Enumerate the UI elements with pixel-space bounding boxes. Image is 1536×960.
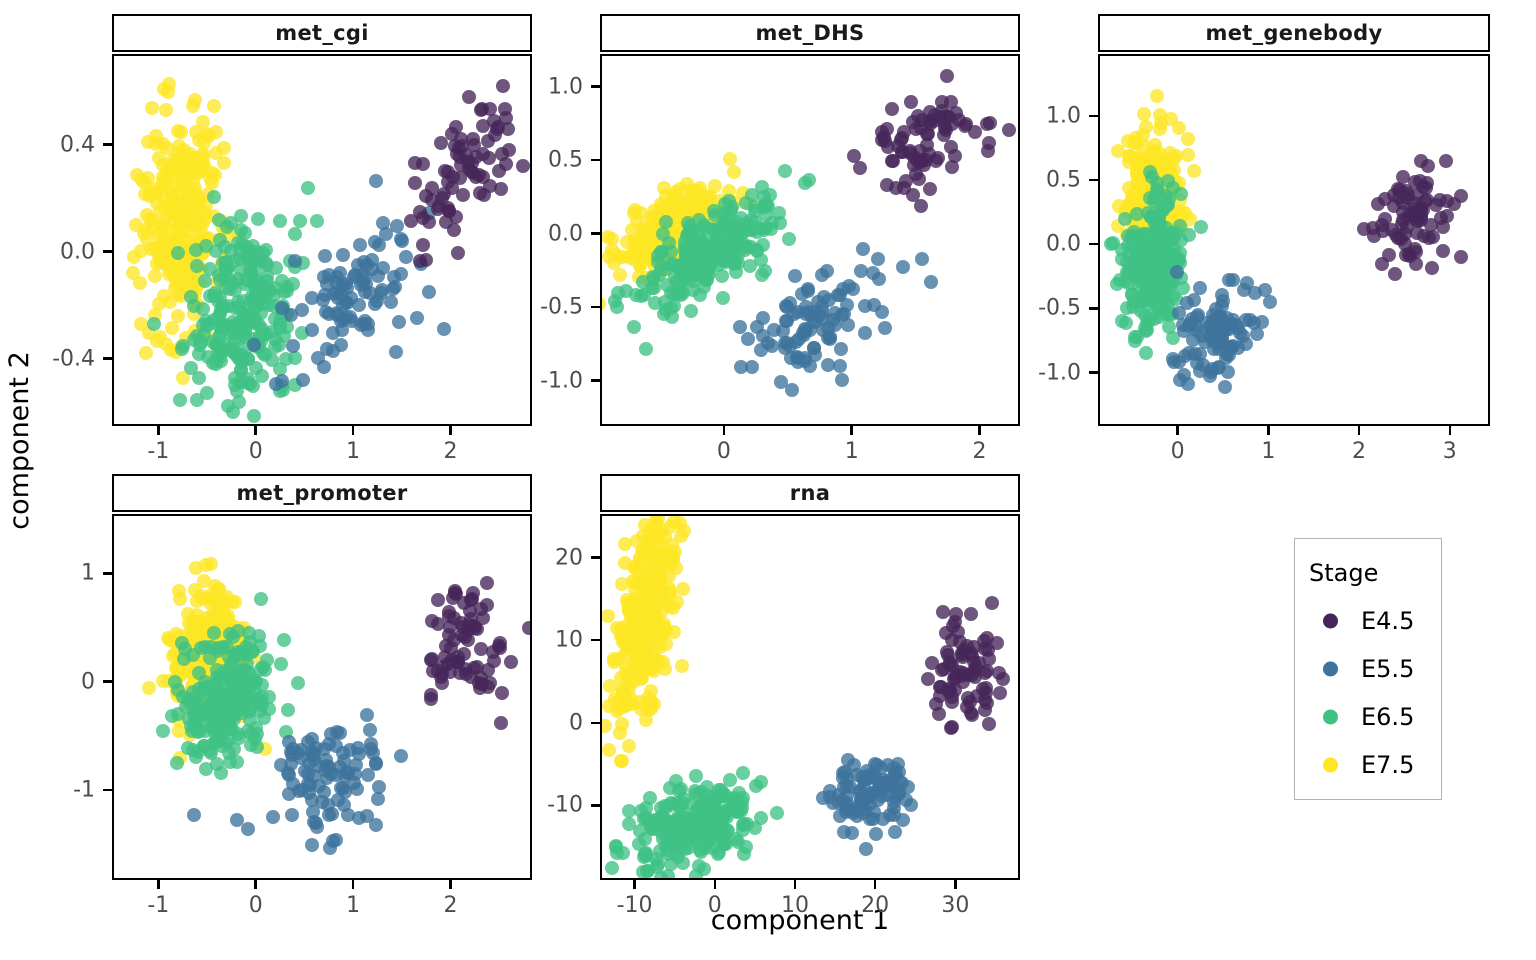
scatter-point <box>731 248 745 262</box>
scatter-point <box>211 693 225 707</box>
scatter-point <box>139 346 153 360</box>
scatter-point <box>1388 267 1402 281</box>
y-tick-met_cgi <box>103 250 112 253</box>
scatter-point <box>624 600 638 614</box>
scatter-point <box>207 190 221 204</box>
scatter-point <box>1130 243 1144 257</box>
scatter-point <box>940 69 954 83</box>
scatter-point <box>323 841 337 855</box>
scatter-point <box>833 359 847 373</box>
y-tick-label-met_genebody: 0.0 <box>978 232 1081 257</box>
x-tick-met_genebody <box>1176 426 1179 435</box>
scatter-point <box>1134 268 1148 282</box>
x-tick-met_cgi <box>254 426 257 435</box>
scatter-point <box>293 214 307 228</box>
x-tick-rna <box>794 880 797 889</box>
scatter-point <box>885 102 899 116</box>
scatter-point <box>948 149 962 163</box>
scatter-point <box>179 178 193 192</box>
facet-strip-label-rna: rna <box>600 474 1020 512</box>
y-tick-label-met_DHS: 0.0 <box>480 221 583 246</box>
scatter-point <box>745 360 759 374</box>
scatter-point <box>743 259 757 273</box>
y-tick-rna <box>591 639 600 642</box>
scatter-point <box>602 743 616 757</box>
scatter-point <box>275 374 289 388</box>
legend-item-E6.5[interactable]: E6.5 <box>1295 697 1441 737</box>
scatter-point <box>1421 159 1435 173</box>
x-tick-rna <box>633 880 636 889</box>
scatter-point <box>159 103 173 117</box>
scatter-point <box>191 725 205 739</box>
scatter-point <box>228 378 242 392</box>
scatter-point <box>650 860 664 874</box>
x-tick-rna <box>954 880 957 889</box>
legend-item-label: E5.5 <box>1361 655 1414 683</box>
scatter-point <box>310 820 324 834</box>
y-tick-met_DHS <box>591 159 600 162</box>
x-tick-label-met_genebody: 1 <box>1261 439 1275 464</box>
scatter-point <box>188 583 202 597</box>
scatter-point <box>295 783 309 797</box>
scatter-point <box>273 214 287 228</box>
scatter-point <box>886 154 900 168</box>
scatter-point <box>354 318 368 332</box>
scatter-point <box>284 308 298 322</box>
scatter-point <box>924 275 938 289</box>
scatter-point <box>310 214 324 228</box>
scatter-point <box>600 297 606 311</box>
scatter-point <box>389 345 403 359</box>
y-tick-label-met_DHS: 0.5 <box>480 148 583 173</box>
scatter-point <box>1237 283 1251 297</box>
scatter-point <box>281 703 295 717</box>
scatter-point <box>252 291 266 305</box>
legend-item-label: E4.5 <box>1361 607 1414 635</box>
scatter-point <box>858 326 872 340</box>
scatter-point <box>929 154 943 168</box>
scatter-point <box>498 102 512 116</box>
y-tick-label-met_genebody: -0.5 <box>978 296 1081 321</box>
scatter-point <box>309 741 323 755</box>
scatter-point <box>1176 281 1190 295</box>
scatter-point <box>656 227 670 241</box>
scatter-point <box>305 323 319 337</box>
scatter-point <box>867 298 881 312</box>
scatter-point <box>213 233 227 247</box>
scatter-point <box>641 691 655 705</box>
scatter-point <box>234 223 248 237</box>
scatter-point <box>394 232 408 246</box>
plot-area-met_DHS <box>600 54 1020 426</box>
y-tick-label-rna: 0 <box>480 710 583 735</box>
scatter-point <box>923 182 937 196</box>
scatter-point <box>716 291 730 305</box>
y-tick-met_genebody <box>1089 179 1098 182</box>
x-tick-met_genebody <box>1267 426 1270 435</box>
legend-item-label: E6.5 <box>1361 703 1414 731</box>
x-tick-label-met_cgi: 0 <box>249 439 263 464</box>
y-tick-met_DHS <box>591 379 600 382</box>
x-tick-rna <box>874 880 877 889</box>
scatter-point <box>312 779 326 793</box>
scatter-point <box>1150 183 1164 197</box>
scatter-point <box>204 746 218 760</box>
scatter-point <box>277 633 291 647</box>
scatter-point <box>209 338 223 352</box>
scatter-point <box>480 576 494 590</box>
x-tick-label-met_cgi: -1 <box>147 439 169 464</box>
scatter-point <box>149 137 163 151</box>
scatter-point <box>627 320 641 334</box>
scatter-point <box>613 726 627 740</box>
scatter-point <box>764 222 778 236</box>
scatter-point <box>165 709 179 723</box>
y-tick-label-met_promoter: -1 <box>0 778 95 803</box>
scatter-point <box>1382 248 1396 262</box>
scatter-point <box>178 212 192 226</box>
scatter-point <box>466 132 480 146</box>
figure-root: component 2 component 1 -1012-0.40.00.4m… <box>0 0 1536 960</box>
facet-panel-met_cgi: met_cgi <box>112 14 532 426</box>
scatter-point <box>708 208 722 222</box>
scatter-point <box>761 336 775 350</box>
scatter-point <box>170 756 184 770</box>
scatter-point <box>451 246 465 260</box>
scatter-point <box>288 227 302 241</box>
scatter-point <box>635 671 649 685</box>
scatter-point <box>1144 210 1158 224</box>
scatter-point <box>1182 228 1196 242</box>
scatter-point <box>736 766 750 780</box>
scatter-point <box>285 808 299 822</box>
scatter-point <box>1181 377 1195 391</box>
scatter-point <box>188 93 202 107</box>
scatter-point <box>622 739 636 753</box>
scatter-point <box>487 654 501 668</box>
scatter-point <box>754 775 768 789</box>
scatter-point <box>173 393 187 407</box>
x-tick-met_cgi <box>157 426 160 435</box>
y-tick-met_DHS <box>591 85 600 88</box>
y-tick-label-rna: -10 <box>480 793 583 818</box>
scatter-point <box>1422 231 1436 245</box>
scatter-point <box>206 711 220 725</box>
scatter-point <box>1447 197 1461 211</box>
scatter-point <box>1378 212 1392 226</box>
scatter-point <box>785 383 799 397</box>
scatter-point <box>613 268 627 282</box>
scatter-point <box>265 353 279 367</box>
scatter-point <box>193 338 207 352</box>
plot-area-met_genebody <box>1098 54 1490 426</box>
scatter-point <box>191 166 205 180</box>
scatter-point <box>878 321 892 335</box>
scatter-point <box>168 282 182 296</box>
scatter-point <box>834 342 848 356</box>
scatter-point <box>880 178 894 192</box>
x-tick-met_DHS <box>850 426 853 435</box>
scatter-point <box>416 238 430 252</box>
scatter-point <box>306 805 320 819</box>
scatter-point <box>1170 265 1184 279</box>
facet-panel-met_genebody: met_genebody <box>1098 14 1490 426</box>
scatter-point <box>782 232 796 246</box>
x-tick-met_genebody <box>1358 426 1361 435</box>
y-tick-rna <box>591 722 600 725</box>
scatter-point <box>1429 198 1443 212</box>
y-tick-rna <box>591 556 600 559</box>
y-tick-met_promoter <box>103 789 112 792</box>
scatter-point <box>856 242 870 256</box>
y-tick-label-met_DHS: -0.5 <box>480 295 583 320</box>
scatter-point <box>639 342 653 356</box>
scatter-point <box>671 817 685 831</box>
scatter-point <box>127 250 141 264</box>
scatter-point <box>888 825 902 839</box>
scatter-point <box>949 607 963 621</box>
scatter-point <box>643 537 657 551</box>
scatter-point <box>770 806 784 820</box>
scatter-point <box>859 842 873 856</box>
facet-strip-label-met_DHS: met_DHS <box>600 14 1020 52</box>
scatter-point <box>756 311 770 325</box>
scatter-point <box>333 726 347 740</box>
scatter-point <box>1160 198 1174 212</box>
scatter-point <box>936 605 950 619</box>
scatter-point <box>477 188 491 202</box>
scatter-point <box>372 238 386 252</box>
legend: Stage E4.5E5.5E6.5E7.5 <box>1294 538 1442 800</box>
scatter-point <box>1218 380 1232 394</box>
scatter-point <box>1119 316 1133 330</box>
scatter-point <box>336 781 350 795</box>
scatter-point <box>778 164 792 178</box>
scatter-point <box>683 833 697 847</box>
scatter-point <box>223 755 237 769</box>
scatter-point <box>1139 346 1153 360</box>
scatter-point <box>230 813 244 827</box>
y-tick-label-met_genebody: 1.0 <box>978 103 1081 128</box>
x-tick-met_DHS <box>723 426 726 435</box>
scatter-point <box>234 363 248 377</box>
facet-strip-label-met_cgi: met_cgi <box>112 14 532 52</box>
scatter-point <box>253 698 267 712</box>
scatter-point <box>823 790 837 804</box>
scatter-point <box>600 719 612 733</box>
x-tick-label-rna: -10 <box>617 893 653 918</box>
scatter-point <box>620 235 634 249</box>
legend-key-dot-icon <box>1323 758 1338 773</box>
scatter-point <box>668 545 682 559</box>
scatter-point <box>660 278 674 292</box>
scatter-point <box>654 245 668 259</box>
plot-area-met_cgi <box>112 54 532 426</box>
scatter-point <box>915 252 929 266</box>
x-tick-label-met_genebody: 0 <box>1171 439 1185 464</box>
scatter-point <box>399 250 413 264</box>
scatter-point <box>456 188 470 202</box>
scatter-point <box>352 747 366 761</box>
scatter-point <box>1436 244 1450 258</box>
scatter-point <box>630 214 644 228</box>
scatter-point <box>410 311 424 325</box>
scatter-point <box>301 181 315 195</box>
scatter-point <box>872 272 886 286</box>
scatter-point <box>249 674 263 688</box>
scatter-point <box>897 181 911 195</box>
scatter-point <box>921 672 935 686</box>
legend-item-E4.5[interactable]: E4.5 <box>1295 601 1441 641</box>
scatter-point <box>887 801 901 815</box>
scatter-point <box>266 810 280 824</box>
scatter-point <box>133 276 147 290</box>
scatter-point <box>774 375 788 389</box>
scatter-point <box>199 239 213 253</box>
scatter-point <box>951 625 965 639</box>
facet-panel-met_promoter: met_promoter <box>112 474 532 880</box>
y-tick-met_genebody <box>1089 307 1098 310</box>
scatter-point <box>474 103 488 117</box>
scatter-point <box>152 297 166 311</box>
scatter-point <box>305 838 319 852</box>
scatter-point <box>739 840 753 854</box>
scatter-point <box>601 230 615 244</box>
scatter-point <box>980 696 994 710</box>
scatter-point <box>234 672 248 686</box>
scatter-point <box>1206 328 1220 342</box>
y-tick-met_DHS <box>591 232 600 235</box>
scatter-point <box>207 99 221 113</box>
scatter-point <box>675 659 689 673</box>
y-tick-label-met_promoter: 1 <box>0 561 95 586</box>
scatter-point <box>353 238 367 252</box>
x-tick-label-met_promoter: 1 <box>346 893 360 918</box>
scatter-point <box>305 793 319 807</box>
scatter-point <box>684 304 698 318</box>
scatter-point <box>268 281 282 295</box>
x-tick-label-rna: 0 <box>708 893 722 918</box>
scatter-point <box>336 248 350 262</box>
scatter-point <box>759 199 773 213</box>
scatter-point <box>206 356 220 370</box>
scatter-point <box>221 399 235 413</box>
scatter-point <box>949 106 963 120</box>
scatter-point <box>1193 347 1207 361</box>
x-tick-met_promoter <box>157 880 160 889</box>
y-tick-met_promoter <box>103 680 112 683</box>
scatter-point <box>318 249 332 263</box>
scatter-point <box>664 301 678 315</box>
x-tick-label-met_promoter: -1 <box>147 893 169 918</box>
scatter-point <box>659 262 673 276</box>
scatter-point <box>1151 235 1165 249</box>
scatter-point <box>787 307 801 321</box>
scatter-point <box>1439 154 1453 168</box>
scatter-point <box>835 373 849 387</box>
scatter-point <box>935 104 949 118</box>
scatter-point <box>896 260 910 274</box>
scatter-point <box>352 298 366 312</box>
scatter-point <box>802 173 816 187</box>
scatter-point <box>394 749 408 763</box>
scatter-point <box>1454 250 1468 264</box>
legend-title: Stage <box>1309 559 1378 587</box>
scatter-point <box>148 269 162 283</box>
scatter-point <box>369 174 383 188</box>
scatter-point <box>1222 273 1236 287</box>
scatter-point <box>875 789 889 803</box>
scatter-point <box>1187 293 1201 307</box>
x-tick-label-met_genebody: 3 <box>1443 439 1457 464</box>
scatter-point <box>677 524 691 538</box>
facet-panel-met_DHS: met_DHS <box>600 14 1020 426</box>
scatter-point <box>610 300 624 314</box>
scatter-point <box>326 344 340 358</box>
legend-item-E5.5[interactable]: E5.5 <box>1295 649 1441 689</box>
x-tick-label-rna: 10 <box>781 893 809 918</box>
scatter-point <box>1162 320 1176 334</box>
x-tick-met_promoter <box>352 880 355 889</box>
scatter-point <box>1250 327 1264 341</box>
scatter-point <box>808 315 822 329</box>
scatter-point <box>993 686 1007 700</box>
legend-item-E7.5[interactable]: E7.5 <box>1295 745 1441 785</box>
scatter-point <box>869 827 883 841</box>
scatter-point <box>296 373 310 387</box>
x-tick-met_cgi <box>449 426 452 435</box>
x-tick-met_promoter <box>254 880 257 889</box>
x-tick-label-met_promoter: 2 <box>443 893 457 918</box>
scatter-point <box>815 300 829 314</box>
scatter-point <box>1158 254 1172 268</box>
scatter-point <box>929 697 943 711</box>
scatter-point <box>504 655 518 669</box>
scatter-point <box>665 797 679 811</box>
scatter-point <box>274 657 288 671</box>
scatter-point <box>190 393 204 407</box>
scatter-point <box>488 128 502 142</box>
scatter-point <box>979 681 993 695</box>
scatter-point <box>719 236 733 250</box>
scatter-point <box>234 209 248 223</box>
scatter-point <box>1181 148 1195 162</box>
scatter-point <box>686 249 700 263</box>
scatter-point <box>161 85 175 99</box>
scatter-point <box>1211 361 1225 375</box>
scatter-point <box>603 679 617 693</box>
plot-area-rna <box>600 514 1020 880</box>
scatter-point <box>175 342 189 356</box>
scatter-point <box>892 774 906 788</box>
scatter-point <box>187 808 201 822</box>
scatter-point <box>676 582 690 596</box>
scatter-point <box>636 865 650 879</box>
y-tick-label-rna: 20 <box>480 545 583 570</box>
y-tick-rna <box>591 804 600 807</box>
scatter-point <box>476 119 490 133</box>
scatter-point <box>444 641 458 655</box>
scatter-point <box>605 861 619 875</box>
scatter-point <box>363 723 377 737</box>
scatter-point <box>247 409 261 423</box>
scatter-point <box>852 799 866 813</box>
x-tick-label-met_cgi: 2 <box>443 439 457 464</box>
scatter-point <box>152 151 166 165</box>
scatter-point <box>223 327 237 341</box>
scatter-point <box>422 285 436 299</box>
legend-item-label: E7.5 <box>1361 751 1414 779</box>
